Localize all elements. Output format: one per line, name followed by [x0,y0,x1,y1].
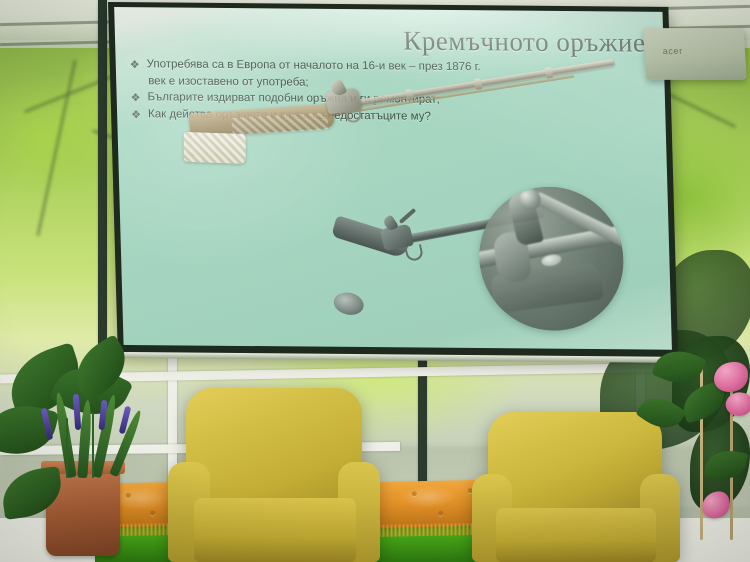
bullet-diamond-icon: ❖ [131,108,141,123]
window-mullion-vertical-1 [98,0,107,390]
projector-screen[interactable]: Кремъчното оръжие ❖ Употребява са в Евро… [108,2,678,359]
armchair-left[interactable] [168,388,380,562]
armchair-right[interactable] [472,412,680,562]
bullet-diamond-icon: ❖ [130,58,140,73]
projector-housing: acer [643,28,747,80]
slide-content: Кремъчното оръжие ❖ Употребява са в Евро… [114,7,672,350]
photo-scene: Кремъчното оръжие ❖ Употребява са в Евро… [0,0,750,562]
slide-image-flintlock-mechanism-closeup [477,186,625,331]
bullet-diamond-icon: ❖ [130,91,140,106]
screen-surface: Кремъчното оръжие ❖ Употребява са в Евро… [114,7,672,350]
acer-logo: acer [662,46,683,56]
